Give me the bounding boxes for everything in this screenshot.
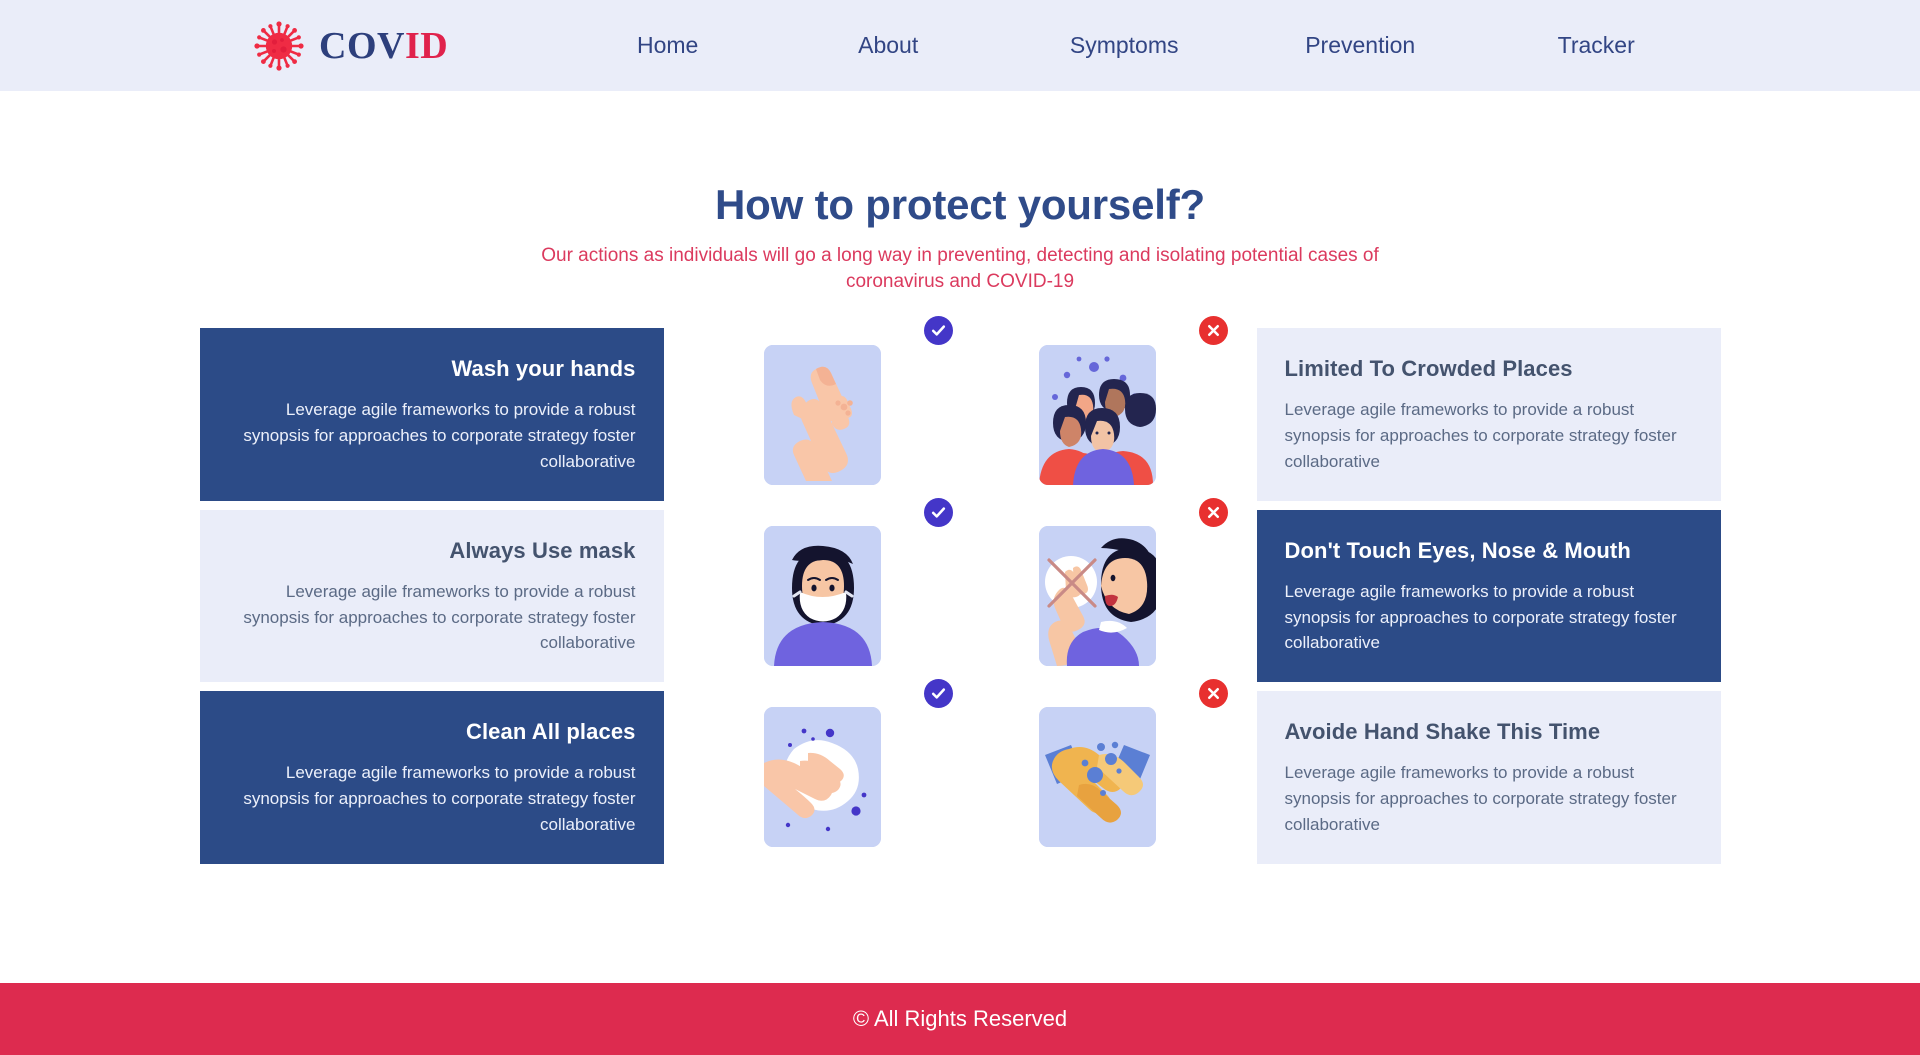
cross-badge-icon <box>1199 498 1228 527</box>
card-body: Leverage agile frameworks to provide a r… <box>228 760 636 837</box>
no-face-touching-illustration <box>1039 526 1156 666</box>
page-root: COVID Home About Symptoms Prevention Tra… <box>0 0 1920 1055</box>
virus-icon <box>253 20 305 72</box>
tile-wearing-mask[interactable] <box>707 510 939 682</box>
nav-link-about[interactable]: About <box>770 32 1006 59</box>
brand-word-id: ID <box>405 25 448 67</box>
card-body: Leverage agile frameworks to provide a r… <box>1285 760 1693 837</box>
person-wearing-mask-illustration <box>764 526 881 666</box>
card-body: Leverage agile frameworks to provide a r… <box>228 397 636 474</box>
footer-copyright: © All Rights Reserved <box>853 1006 1067 1032</box>
handshake-with-germs-illustration <box>1039 707 1156 847</box>
card-wash-your-hands[interactable]: Wash your hands Leverage agile framework… <box>200 328 664 500</box>
card-title: Wash your hands <box>228 356 636 382</box>
nav-links: Home About Symptoms Prevention Tracker <box>565 32 1714 59</box>
nav-link-home[interactable]: Home <box>565 32 770 59</box>
brand-logo[interactable]: COVID <box>253 20 448 72</box>
card-title: Limited To Crowded Places <box>1285 356 1693 382</box>
hand-cleaning-surface-illustration <box>764 707 881 847</box>
card-body: Leverage agile frameworks to provide a r… <box>1285 579 1693 656</box>
card-dont-touch-eyes-nose-mouth[interactable]: Don't Touch Eyes, Nose & Mouth Leverage … <box>1257 510 1721 682</box>
card-title: Avoide Hand Shake This Time <box>1285 719 1693 745</box>
card-body: Leverage agile frameworks to provide a r… <box>228 579 636 656</box>
card-title: Always Use mask <box>228 538 636 564</box>
tile-washing-hands[interactable] <box>707 328 939 500</box>
card-clean-all-places[interactable]: Clean All places Leverage agile framewor… <box>200 691 664 863</box>
card-title: Clean All places <box>228 719 636 745</box>
page-subtitle: Our actions as individuals will go a lon… <box>510 243 1410 294</box>
tile-handshake[interactable] <box>982 691 1214 863</box>
card-limited-to-crowded-places[interactable]: Limited To Crowded Places Leverage agile… <box>1257 328 1721 500</box>
tile-clean-surface[interactable] <box>707 691 939 863</box>
washing-hands-illustration <box>764 345 881 485</box>
check-badge-icon <box>924 679 953 708</box>
page-title: How to protect yourself? <box>0 181 1920 229</box>
card-always-use-mask[interactable]: Always Use mask Leverage agile framework… <box>200 510 664 682</box>
card-body: Leverage agile frameworks to provide a r… <box>1285 397 1693 474</box>
nav-link-symptoms[interactable]: Symptoms <box>1006 32 1242 59</box>
card-avoid-hand-shake[interactable]: Avoide Hand Shake This Time Leverage agi… <box>1257 691 1721 863</box>
footer: © All Rights Reserved <box>0 983 1920 1055</box>
protection-grid: Wash your hands Leverage agile framework… <box>0 328 1920 863</box>
check-badge-icon <box>924 316 953 345</box>
hero-section: How to protect yourself? Our actions as … <box>0 91 1920 294</box>
tile-no-face-touching[interactable] <box>982 510 1214 682</box>
cross-badge-icon <box>1199 316 1228 345</box>
check-badge-icon <box>924 498 953 527</box>
card-title: Don't Touch Eyes, Nose & Mouth <box>1285 538 1693 564</box>
nav-link-tracker[interactable]: Tracker <box>1478 32 1714 59</box>
tile-crowded-place[interactable] <box>982 328 1214 500</box>
crowd-of-people-illustration <box>1039 345 1156 485</box>
brand-wordmark: COVID <box>319 27 448 65</box>
nav-link-prevention[interactable]: Prevention <box>1242 32 1478 59</box>
cross-badge-icon <box>1199 679 1228 708</box>
navbar: COVID Home About Symptoms Prevention Tra… <box>0 0 1920 91</box>
brand-word-cov: COV <box>319 25 405 67</box>
